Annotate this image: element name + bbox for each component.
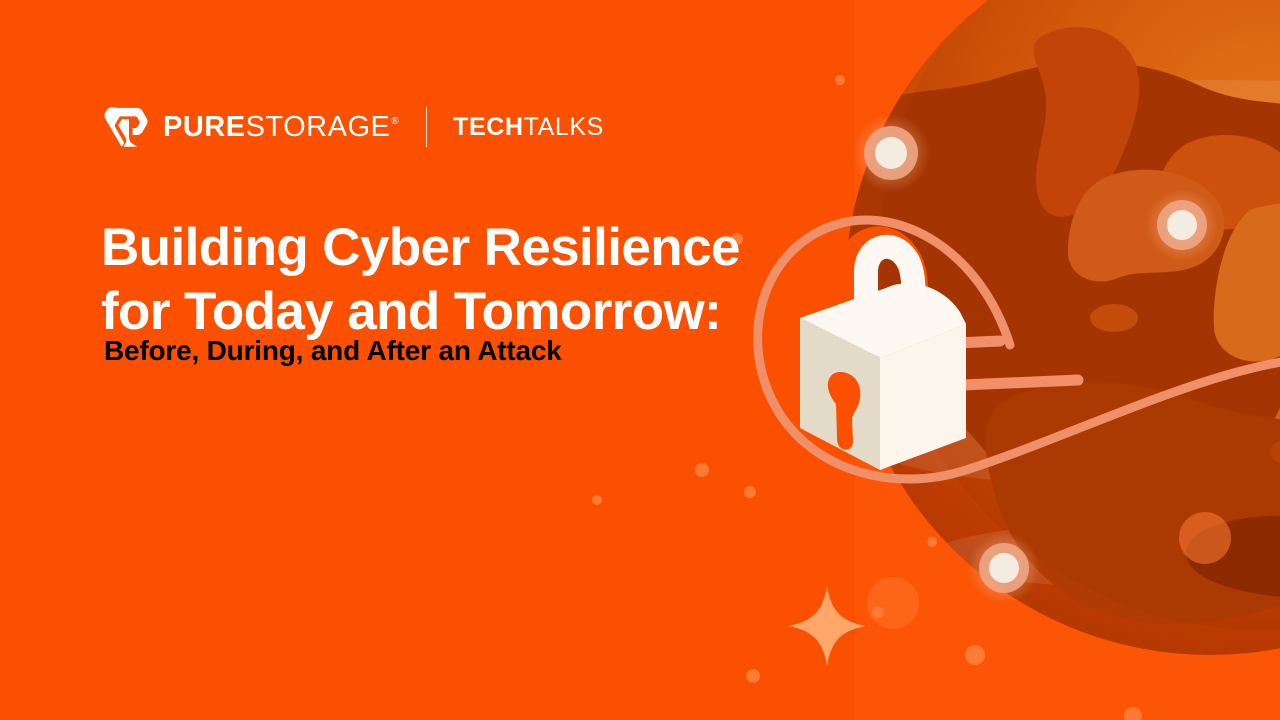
- pure-storage-hexagon-logo: [104, 107, 148, 147]
- page-subtitle: Before, During, and After an Attack: [104, 335, 562, 367]
- globe-marker-pin: [968, 532, 1040, 604]
- brand-lockup: PURE STORAGE ® TECH TALKS: [104, 103, 604, 151]
- wordmark-talks: TALKS: [524, 113, 604, 142]
- title-line-1: Building Cyber Resilience: [101, 216, 801, 281]
- wordmark-storage: STORAGE: [246, 111, 391, 144]
- pure-storage-wordmark: PURE STORAGE ®: [163, 111, 398, 144]
- wordmark-pure: PURE: [163, 111, 246, 144]
- globe-marker-pin: [852, 114, 930, 192]
- sparkle-star: [788, 586, 866, 666]
- registered-trademark-icon: ®: [391, 116, 399, 127]
- presentation-slide: PURE STORAGE ® TECH TALKS Building Cyber…: [0, 0, 1280, 720]
- wordmark-tech: TECH: [453, 113, 523, 142]
- page-title: Building Cyber Resilience for Today and …: [101, 216, 801, 345]
- lockup-divider: [426, 107, 427, 147]
- globe-marker-pin: [1146, 189, 1218, 261]
- tech-talks-wordmark: TECH TALKS: [453, 113, 604, 142]
